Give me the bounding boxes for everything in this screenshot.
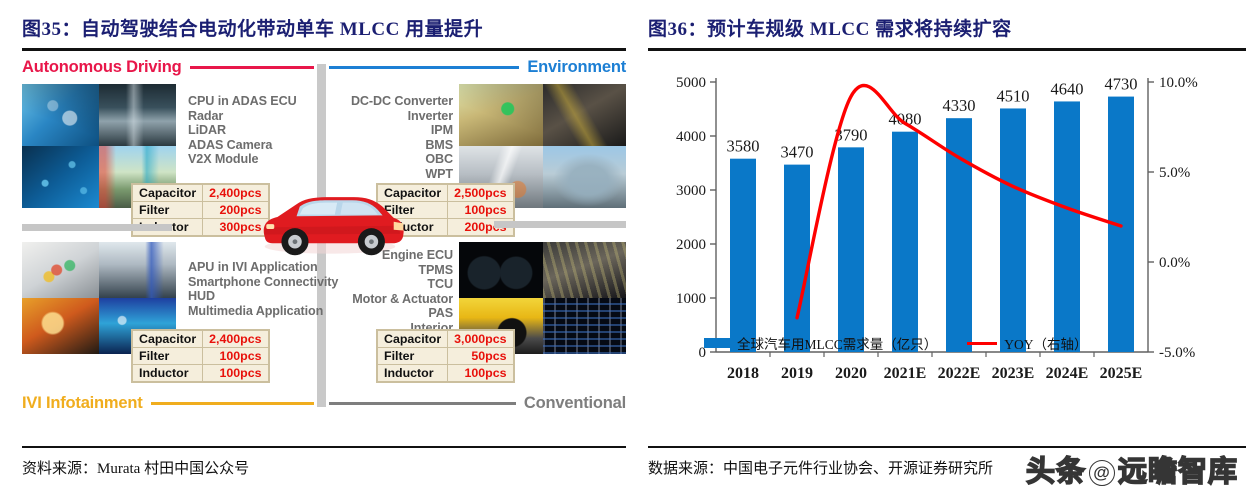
quadrant-heading-label: IVI Infotainment — [22, 394, 143, 413]
table-row: Filter 100pcs — [133, 348, 269, 365]
svg-text:2000: 2000 — [676, 237, 706, 253]
right-figure-title: 图36：预计车规级 MLCC 需求将持续扩容 — [648, 0, 1246, 41]
svg-text:2021E: 2021E — [884, 365, 927, 382]
pcs-key: Inductor — [378, 219, 448, 236]
pcs-value: 100pcs — [448, 202, 513, 219]
photo-wireless-charging-car — [543, 146, 627, 208]
photo-instrument-cluster — [459, 242, 543, 298]
pcs-value: 2,400pcs — [203, 185, 268, 202]
left-source-text: 资料来源：Murata 村田中国公众号 — [22, 457, 249, 478]
svg-text:2024E: 2024E — [1046, 365, 1089, 382]
quadrant-heading-rule — [329, 402, 516, 405]
spec-item: V2X Module — [188, 152, 297, 167]
svg-text:2023E: 2023E — [992, 365, 1035, 382]
legend-label-bar: 全球汽车用MLCC需求量（亿只） — [737, 333, 937, 353]
grey-divider-bar — [494, 221, 626, 228]
mlcc-demand-chart: 010002000300040005000-5.0%0.0%5.0%10.0%2… — [648, 56, 1246, 431]
quadrant-heading-label: Conventional — [524, 394, 626, 413]
quadrant-conventional: Engine ECU TPMS TCU Motor & Actuator PAS… — [329, 238, 626, 413]
pcs-value: 50pcs — [448, 348, 513, 365]
pcs-value: 200pcs — [203, 202, 268, 219]
table-row: Inductor 100pcs — [378, 365, 514, 382]
pcs-key: Filter — [378, 202, 448, 219]
right-title-rule — [648, 48, 1246, 51]
pcs-key: Filter — [378, 348, 448, 365]
svg-text:4640: 4640 — [1051, 79, 1084, 98]
spec-item: OBC — [329, 152, 453, 167]
pcs-value: 100pcs — [203, 365, 268, 382]
pcs-value: 300pcs — [203, 219, 268, 236]
pcs-key: Capacitor — [133, 185, 203, 202]
pcs-value: 2,500pcs — [448, 185, 513, 202]
watermark-text-head: 头条 — [1026, 456, 1086, 488]
pcs-table-ivi: Capacitor 2,400pcs Filter 100pcs Inducto… — [132, 330, 269, 382]
spec-item: WPT — [329, 167, 453, 182]
legend-swatch-line-icon — [967, 342, 997, 345]
watermark-text-tail: 远瞻智库 — [1118, 456, 1238, 488]
photo-dashboard-display — [99, 242, 176, 298]
pcs-table-environment: Capacitor 2,500pcs Filter 100pcs Inducto… — [377, 184, 514, 236]
table-row: Capacitor 3,000pcs — [378, 331, 514, 348]
quadrant-header-conventional: Conventional — [329, 394, 626, 413]
spec-item: Radar — [188, 109, 297, 124]
photo-engine-bay-inverter — [543, 84, 627, 146]
pcs-key: Inductor — [378, 365, 448, 382]
svg-text:4000: 4000 — [676, 129, 706, 145]
right-source-text: 数据来源：中国电子元件行业协会、开源证券研究所 — [648, 457, 993, 478]
spec-item: TPMS — [329, 263, 453, 278]
right-figure-label: 图36： — [648, 19, 707, 40]
pcs-value: 100pcs — [448, 365, 513, 382]
table-row: Capacitor 2,400pcs — [133, 185, 269, 202]
spec-list-autonomous-driving: CPU in ADAS ECU Radar LiDAR ADAS Camera … — [188, 94, 297, 167]
svg-text:2020: 2020 — [835, 365, 867, 382]
pcs-value: 100pcs — [203, 348, 268, 365]
svg-text:5.0%: 5.0% — [1159, 165, 1190, 181]
svg-text:4730: 4730 — [1105, 75, 1138, 94]
pcs-value: 2,400pcs — [203, 331, 268, 348]
table-row: Filter 50pcs — [378, 348, 514, 365]
pcs-key: Capacitor — [378, 185, 448, 202]
svg-text:2019: 2019 — [781, 365, 813, 382]
svg-text:1000: 1000 — [676, 291, 706, 307]
table-row: Capacitor 2,500pcs — [378, 185, 514, 202]
spec-item: Multimedia Application — [188, 304, 338, 319]
center-divider — [317, 64, 326, 407]
pcs-key: Filter — [133, 202, 203, 219]
svg-text:4510: 4510 — [997, 86, 1030, 105]
spec-item: Motor & Actuator — [329, 292, 453, 307]
svg-text:2018: 2018 — [727, 365, 759, 382]
spec-item: HUD — [188, 289, 338, 304]
quadrant-header-autonomous-driving: Autonomous Driving — [22, 58, 314, 77]
pcs-key: Capacitor — [378, 331, 448, 348]
at-icon: @ — [1089, 460, 1115, 486]
svg-text:0.0%: 0.0% — [1159, 255, 1190, 271]
svg-text:2025E: 2025E — [1100, 365, 1143, 382]
svg-text:3470: 3470 — [781, 143, 814, 162]
mlcc-application-diagram: Autonomous Driving CPU in ADAS ECU Radar… — [22, 58, 626, 413]
right-figure-title-text: 预计车规级 MLCC 需求将持续扩容 — [707, 19, 1012, 40]
spec-item: IPM — [329, 123, 453, 138]
quadrant-heading-rule — [151, 402, 314, 405]
spec-item: TCU — [329, 277, 453, 292]
table-row: Filter 200pcs — [133, 202, 269, 219]
spec-item: Inverter — [329, 109, 453, 124]
spec-item: CPU in ADAS ECU — [188, 94, 297, 109]
photo-app-icons-wheel — [22, 242, 99, 298]
spec-list-environment: DC-DC Converter Inverter IPM BMS OBC WPT — [329, 94, 453, 182]
left-figure-title-text: 自动驾驶结合电动化带动单车 MLCC 用量提升 — [81, 19, 483, 40]
watermark-overlay: 头条@远瞻智库 — [1026, 448, 1238, 490]
photo-pcb-boards — [543, 298, 627, 354]
figure-panel-left: 图35：自动驾驶结合电动化带动单车 MLCC 用量提升 Autonomous D… — [22, 0, 626, 496]
spec-item: LiDAR — [188, 123, 297, 138]
quadrant-ivi-infotainment: APU in IVI Application Smartphone Connec… — [22, 238, 314, 413]
photo-engine-compartment — [543, 242, 627, 298]
svg-text:3580: 3580 — [727, 137, 760, 156]
svg-text:10.0%: 10.0% — [1159, 75, 1198, 91]
photo-sensor-network — [22, 146, 99, 208]
left-title-rule — [22, 48, 626, 51]
pcs-table-conventional: Capacitor 3,000pcs Filter 50pcs Inductor… — [377, 330, 514, 382]
spec-item: BMS — [329, 138, 453, 153]
quadrant-environment: Environment DC-DC Converter Inverter IPM… — [329, 58, 626, 234]
table-row: Filter 100pcs — [378, 202, 514, 219]
pcs-key: Filter — [133, 348, 203, 365]
spec-item: Smartphone Connectivity — [188, 275, 338, 290]
spec-item: APU in IVI Application — [188, 260, 338, 275]
spec-item: PAS — [329, 306, 453, 321]
grey-divider-bar-left — [22, 224, 172, 231]
chart-legend: 全球汽车用MLCC需求量（亿只） YOY（右轴） — [704, 333, 1224, 353]
photo-driver-hud — [22, 84, 99, 146]
quadrant-header-ivi-infotainment: IVI Infotainment — [22, 394, 314, 413]
svg-text:2022E: 2022E — [938, 365, 981, 382]
quadrant-autonomous-driving: Autonomous Driving CPU in ADAS ECU Radar… — [22, 58, 314, 234]
spec-item: DC-DC Converter — [329, 94, 453, 109]
pcs-key: Capacitor — [133, 331, 203, 348]
legend-swatch-bar-icon — [704, 338, 730, 348]
svg-text:4330: 4330 — [943, 96, 976, 115]
legend-item-bar[interactable]: 全球汽车用MLCC需求量（亿只） — [704, 333, 937, 353]
figure-panel-right: 图36：预计车规级 MLCC 需求将持续扩容 01000200030004000… — [648, 0, 1246, 496]
table-row: Inductor 200pcs — [378, 219, 514, 236]
spec-list-conventional: Engine ECU TPMS TCU Motor & Actuator PAS… — [329, 248, 453, 336]
photo-ev-charging — [459, 84, 543, 146]
quadrant-header-environment: Environment — [329, 58, 626, 77]
pcs-value: 3,000pcs — [448, 331, 513, 348]
pcs-key: Inductor — [133, 365, 203, 382]
svg-text:3000: 3000 — [676, 183, 706, 199]
table-row: Capacitor 2,400pcs — [133, 331, 269, 348]
legend-item-line[interactable]: YOY（右轴） — [967, 333, 1087, 353]
left-figure-title: 图35：自动驾驶结合电动化带动单车 MLCC 用量提升 — [22, 0, 626, 41]
spec-list-ivi: APU in IVI Application Smartphone Connec… — [188, 260, 338, 318]
spec-item: ADAS Camera — [188, 138, 297, 153]
left-source-rule — [22, 446, 626, 448]
spec-item: Engine ECU — [329, 248, 453, 263]
legend-label-line: YOY（右轴） — [1004, 333, 1087, 353]
page-root: 图35：自动驾驶结合电动化带动单车 MLCC 用量提升 Autonomous D… — [0, 0, 1258, 496]
photo-cockpit-view — [99, 84, 176, 146]
quadrant-heading-label: Autonomous Driving — [22, 58, 182, 77]
svg-text:5000: 5000 — [676, 75, 706, 91]
table-row: Inductor 100pcs — [133, 365, 269, 382]
quadrant-heading-rule — [190, 66, 314, 69]
photo-connected-device — [22, 298, 99, 354]
left-figure-label: 图35： — [22, 19, 81, 40]
quadrant-heading-label: Environment — [527, 58, 626, 77]
quadrant-heading-rule — [329, 66, 519, 69]
